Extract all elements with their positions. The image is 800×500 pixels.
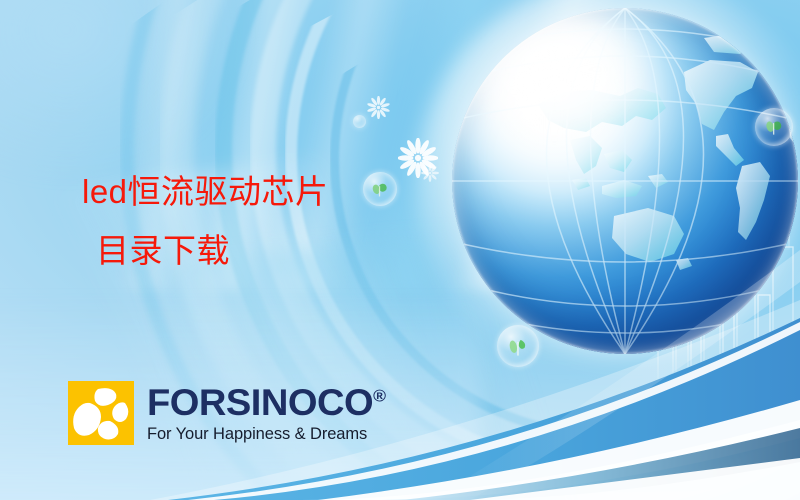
logo-tagline: For Your Happiness & Dreams <box>147 426 379 443</box>
banner-canvas: led恒流驱动芯片 目录下载 FORSINOCO® <box>0 0 800 500</box>
bubble-shell <box>755 108 793 146</box>
logo-wordmark: FORSINOCO® <box>147 384 386 421</box>
registered-trademark-icon: ® <box>373 386 386 405</box>
page-title: led恒流驱动芯片 目录下载 <box>82 163 412 280</box>
bubble-shell <box>497 325 539 367</box>
city-skyline-icon <box>650 207 800 382</box>
brand-logo: FORSINOCO® For Your Happiness & Dreams <box>68 381 379 445</box>
daisy-flower-icon-small <box>367 96 390 119</box>
soap-bubble-icon <box>497 325 539 367</box>
globe-outer-glow <box>418 0 800 388</box>
globe-specular-highlight <box>473 18 688 177</box>
bubble-shell <box>353 115 366 128</box>
logo-mark <box>68 381 134 445</box>
soap-bubble-icon <box>755 108 793 146</box>
headline-line-1: led恒流驱动芯片 <box>82 163 412 222</box>
green-leaf-icon <box>506 334 530 358</box>
globe-sphere <box>452 8 798 354</box>
headline-line-2: 目录下载 <box>82 222 412 281</box>
soap-bubble-icon-tiny <box>353 115 366 128</box>
green-leaf-icon <box>763 116 784 137</box>
logo-text-block: FORSINOCO® For Your Happiness & Dreams <box>147 384 379 443</box>
logo-wordmark-text: FORSINOCO <box>147 382 373 423</box>
daisy-flower-icon-tiny <box>421 164 439 182</box>
earth-globe-icon <box>452 8 798 354</box>
globe-surface <box>452 8 798 354</box>
four-petal-pinwheel-icon <box>68 381 134 445</box>
globe-rim-light <box>452 8 798 354</box>
